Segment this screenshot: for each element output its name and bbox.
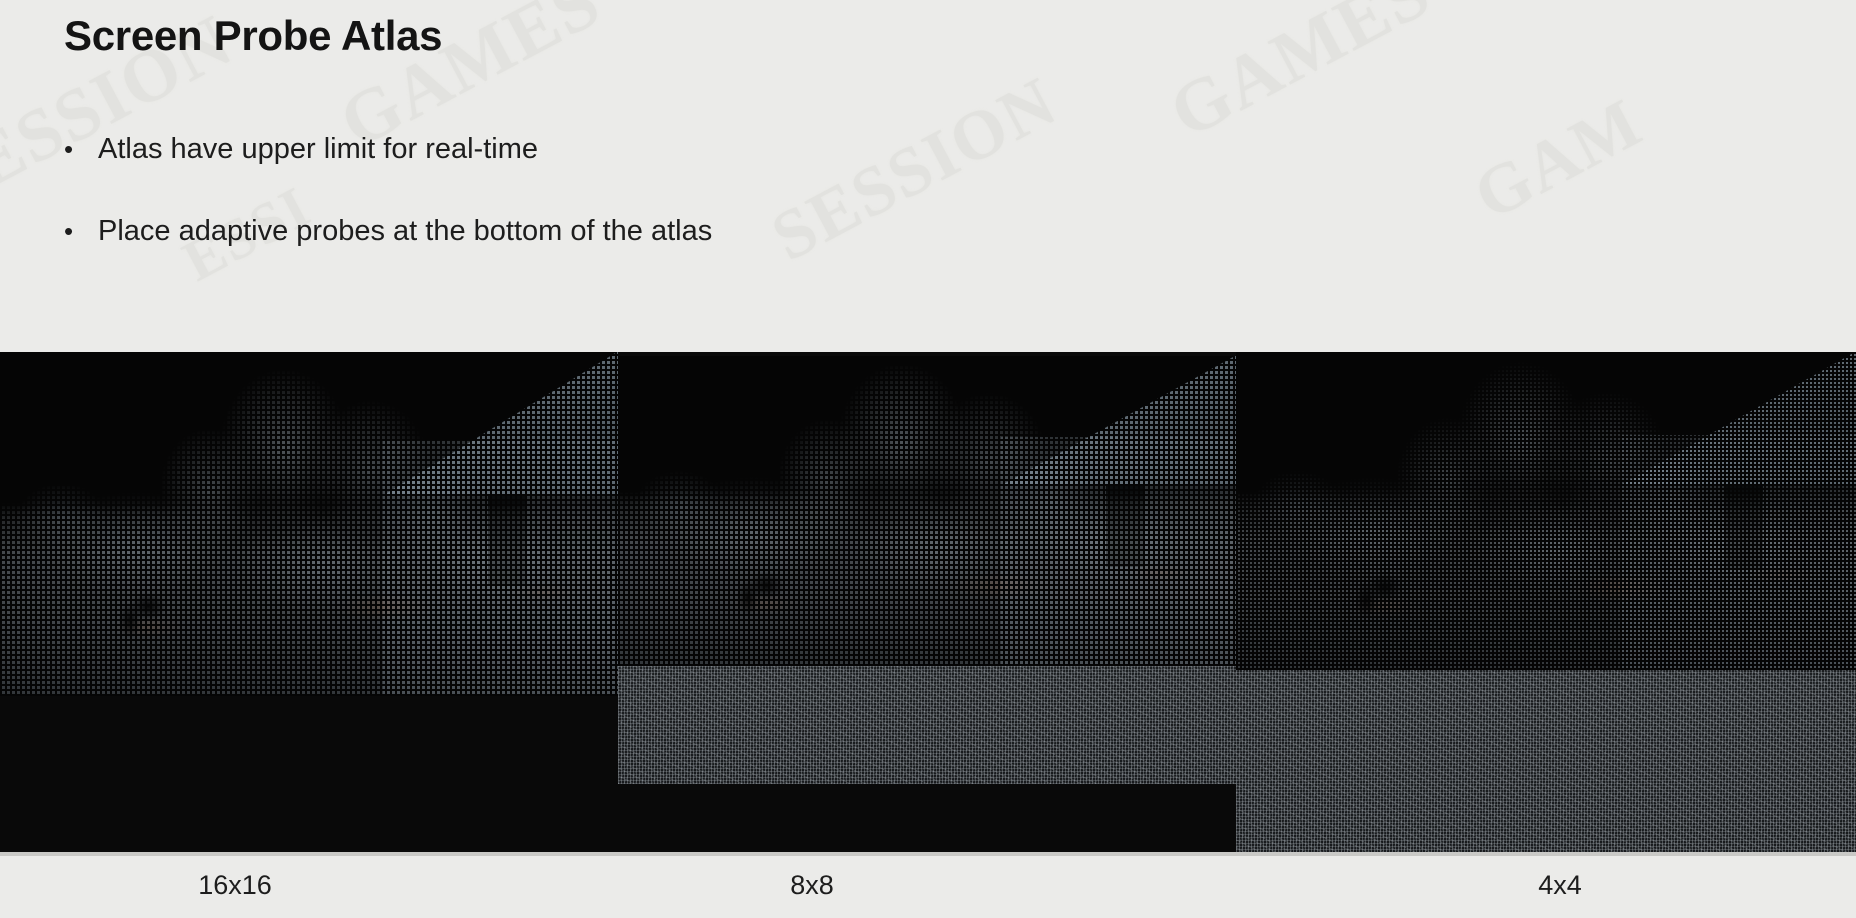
scene-layer-shadow	[0, 352, 618, 696]
slide-root: ESSION GAMES ESSI SESSION GAMES GAM Scre…	[0, 0, 1856, 918]
atlas-unused-area	[618, 784, 1236, 856]
atlas-panel-8x8	[618, 356, 1236, 856]
bullet-marker-icon: •	[64, 136, 98, 162]
adaptive-probe-noise-field	[1236, 670, 1856, 856]
bullet-text: Place adaptive probes at the bottom of t…	[98, 213, 712, 249]
panel-caption-16x16: 16x16	[198, 870, 272, 901]
bullet-marker-icon: •	[64, 218, 98, 244]
figure-strip	[0, 352, 1856, 856]
bullet-text: Atlas have upper limit for real-time	[98, 131, 538, 167]
adaptive-probe-noise-field	[618, 666, 1236, 784]
scene-layer-shadow	[618, 356, 1236, 666]
slide-text-area: Screen Probe Atlas • Atlas have upper li…	[0, 0, 1856, 352]
atlas-scene	[1236, 352, 1856, 670]
bullet-item: • Place adaptive probes at the bottom of…	[64, 213, 712, 249]
atlas-scene	[0, 352, 618, 696]
atlas-panel-16x16	[0, 352, 618, 856]
bullet-item: • Atlas have upper limit for real-time	[64, 131, 538, 167]
atlas-panel-4x4	[1236, 352, 1856, 856]
page-title: Screen Probe Atlas	[64, 12, 442, 60]
panel-caption-4x4: 4x4	[1538, 870, 1582, 901]
atlas-unused-area	[0, 696, 618, 856]
atlas-scene	[618, 356, 1236, 666]
scene-layer-shadow	[1236, 352, 1856, 670]
panel-caption-8x8: 8x8	[790, 870, 834, 901]
caption-row: 16x16 8x8 4x4	[0, 856, 1856, 918]
